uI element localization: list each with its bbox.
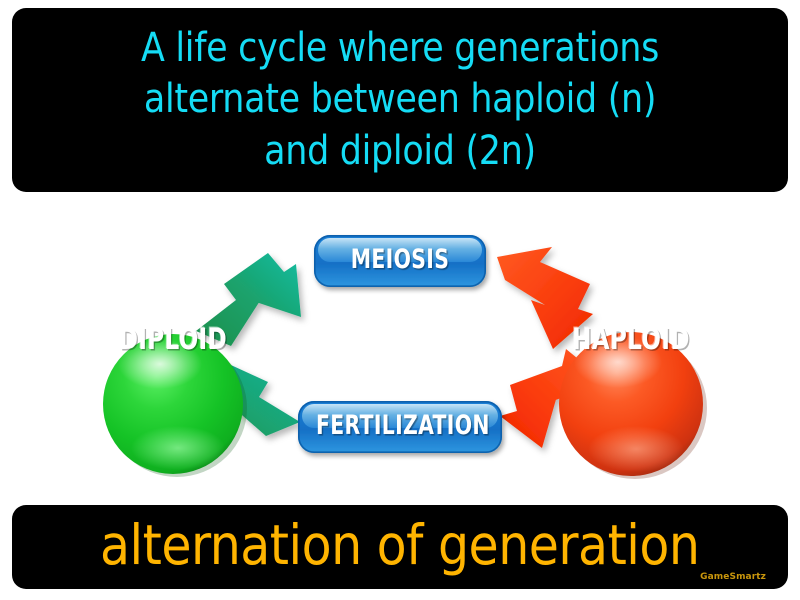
definition-text: A life cycle where generations alternate… bbox=[127, 23, 672, 177]
definition-card: A life cycle where generations alternate… bbox=[0, 0, 800, 600]
gamesmartz-watermark: GameSmartz bbox=[700, 572, 766, 582]
haploid-sphere bbox=[559, 332, 707, 479]
arrow-diploid-to-meiosis-icon bbox=[196, 253, 301, 346]
diploid-sphere bbox=[103, 334, 247, 477]
meiosis-pill[interactable] bbox=[314, 235, 486, 287]
term-title: alternation of generation bbox=[100, 518, 699, 573]
life-cycle-diagram: DIPLOID HAPLOID MEIOSIS FERTILIZATION bbox=[0, 196, 800, 502]
diagram-canvas bbox=[0, 196, 800, 502]
term-banner: alternation of generation GameSmartz bbox=[12, 505, 788, 589]
definition-banner: A life cycle where generations alternate… bbox=[12, 8, 788, 192]
arrow-meiosis-to-haploid-icon bbox=[497, 247, 593, 349]
fertilization-pill[interactable] bbox=[298, 401, 502, 453]
